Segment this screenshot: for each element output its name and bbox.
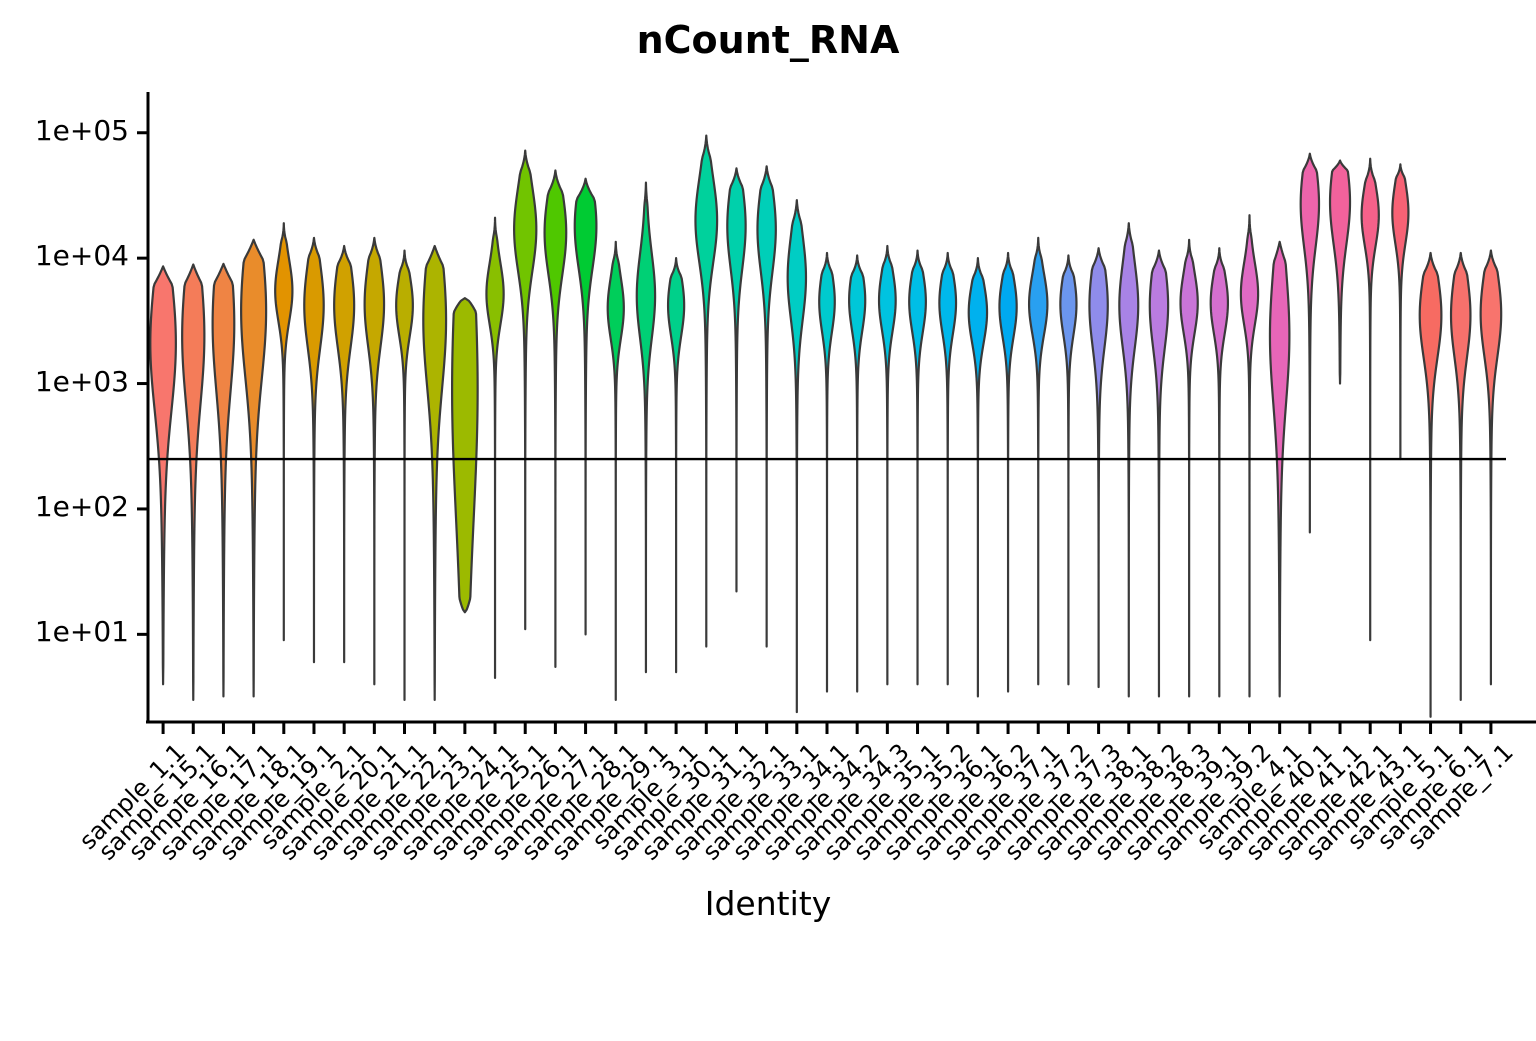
y-tick-label: 1e+03 [19, 365, 129, 398]
violin-sample_37.1 [1029, 238, 1047, 684]
violin-sample_2.1 [334, 246, 354, 662]
violin-sample_38.3 [1181, 240, 1198, 697]
violin-sample_20.1 [365, 238, 384, 684]
violin-sample_4.1 [1270, 242, 1289, 697]
violin-sample_42.1 [1362, 159, 1379, 640]
violin-sample_24.1 [486, 218, 503, 678]
violins-group [150, 136, 1501, 717]
violin-sample_38.2 [1150, 251, 1168, 697]
violin-sample_37.3 [1089, 248, 1107, 687]
violin-sample_34.2 [849, 255, 865, 691]
violin-sample_15.1 [182, 265, 204, 700]
y-tick-label: 1e+05 [19, 114, 129, 147]
x-axis-title: Identity [0, 884, 1536, 923]
violin-sample_41.1 [1330, 161, 1350, 384]
violin-sample_40.1 [1301, 154, 1319, 533]
violin-sample_31.1 [727, 168, 745, 591]
violin-sample_43.1 [1392, 164, 1408, 459]
violin-sample_37.2 [1060, 255, 1076, 684]
violin-sample_19.1 [304, 238, 323, 662]
violin-sample_30.1 [695, 136, 717, 647]
violin-sample_6.1 [1451, 253, 1470, 700]
violin-sample_29.1 [637, 183, 655, 672]
violin-sample_26.1 [545, 171, 567, 667]
violin-sample_32.1 [757, 166, 775, 646]
violin-sample_33.1 [788, 200, 806, 712]
violin-sample_34.1 [819, 253, 835, 692]
y-tick-label: 1e+04 [19, 239, 129, 272]
violin-sample_22.1 [423, 246, 446, 700]
violin-sample_35.1 [909, 251, 926, 685]
y-tick-label: 1e+02 [19, 490, 129, 523]
violin-sample_35.2 [939, 253, 956, 684]
violin-sample_17.1 [241, 240, 266, 697]
violin-sample_16.1 [213, 264, 235, 697]
violin-sample_34.3 [879, 246, 896, 684]
violin-sample_28.1 [608, 242, 624, 700]
violin-sample_36.1 [969, 258, 987, 696]
violin-sample_18.1 [275, 223, 292, 640]
violin-sample_21.1 [396, 251, 413, 700]
violin-sample_25.1 [514, 151, 536, 630]
violin-sample_3.1 [668, 258, 684, 672]
y-tick-label: 1e+01 [19, 615, 129, 648]
violin-sample_1.1 [150, 266, 176, 684]
violin-sample_36.2 [999, 253, 1016, 692]
violin-plot-figure: nCount_RNA 1e+051e+041e+031e+021e+01 sam… [0, 0, 1536, 960]
violin-sample_23.1 [452, 298, 478, 612]
violin-sample_39.2 [1241, 215, 1258, 696]
violin-sample_5.1 [1420, 253, 1442, 717]
violin-sample_27.1 [575, 179, 597, 635]
violin-sample_39.1 [1211, 248, 1228, 696]
violin-sample_7.1 [1481, 251, 1502, 685]
